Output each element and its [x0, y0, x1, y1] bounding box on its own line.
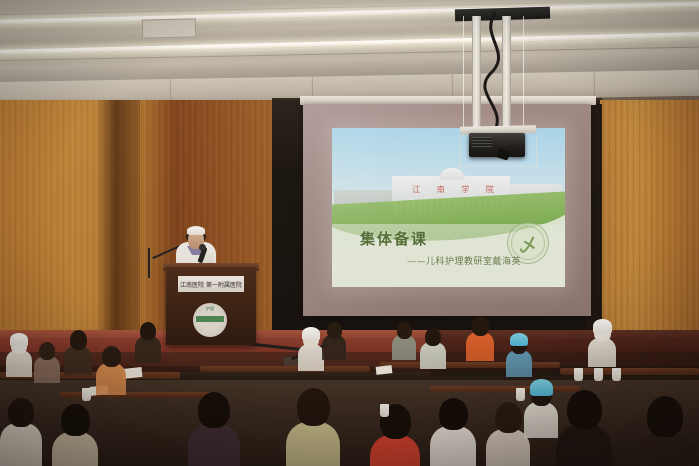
podium-sign: 江南医院 第一附属医院 — [178, 276, 244, 292]
audience-head — [495, 402, 522, 433]
audience-person — [135, 336, 161, 363]
nurse-cap-icon — [302, 327, 320, 340]
wall-corner-shadow — [96, 100, 140, 350]
audience-head — [8, 398, 34, 427]
audience-person — [556, 425, 612, 466]
bench — [430, 386, 580, 392]
bench — [380, 362, 560, 368]
wood-grain-texture-right — [600, 100, 699, 350]
projector-frame-bar — [458, 166, 538, 167]
audience-person — [188, 424, 240, 466]
audience-person — [0, 423, 42, 466]
projector-frame-leg — [460, 134, 461, 168]
audience-person — [466, 332, 494, 361]
audience-person — [524, 402, 558, 438]
bench — [200, 366, 370, 372]
microphone-stand — [148, 248, 150, 278]
paper-cup-icon — [574, 368, 583, 381]
projector-frame-leg — [536, 134, 537, 168]
screen-sheen — [303, 104, 591, 316]
audience-head — [198, 392, 230, 428]
projector-cable — [468, 12, 528, 134]
surgical-cap-icon — [510, 333, 528, 346]
podium-emblem-band — [196, 316, 224, 322]
audience-head — [425, 328, 441, 346]
paper-cup-icon — [594, 368, 603, 381]
nurse-cap-icon — [10, 333, 28, 346]
audience-head — [70, 330, 87, 350]
audience-person — [636, 433, 694, 466]
audience-person — [430, 426, 476, 466]
paper-cup-icon — [612, 368, 621, 381]
audience-person — [96, 363, 126, 395]
audience-head — [647, 396, 683, 437]
paper-sheet — [376, 365, 393, 375]
lift-wire — [463, 16, 464, 136]
photo-scene: 江 南 学 院 乄 集体备课 ——儿科护理教研室戴海英 — [0, 0, 699, 466]
surgical-cap-icon — [530, 379, 553, 396]
audience-head — [61, 404, 90, 436]
podium-emblem-text: 护理 — [196, 306, 224, 314]
paper-cup-icon — [516, 388, 525, 401]
audience-person — [6, 350, 32, 377]
audience-person — [420, 342, 446, 369]
audience-person — [588, 338, 616, 367]
paper-cup-icon — [82, 388, 91, 401]
audience-person — [286, 422, 340, 466]
audience-person — [506, 350, 532, 377]
audience-person — [298, 344, 324, 371]
audience-head — [472, 316, 489, 336]
audience-head — [439, 398, 468, 430]
paper-cup-icon — [380, 404, 389, 417]
audience-person — [52, 432, 98, 466]
ceiling-vent-icon — [142, 18, 196, 38]
audience-head — [567, 390, 602, 429]
microphone-head-icon — [199, 244, 206, 251]
audience-person — [34, 356, 60, 383]
audience-head — [39, 342, 55, 360]
audience-head — [140, 322, 156, 340]
audience-person — [370, 435, 420, 466]
audience-head — [397, 322, 412, 339]
nurse-cap-icon — [593, 319, 612, 333]
audience-head — [102, 346, 121, 367]
nurse-cap-icon — [187, 226, 205, 235]
audience-head — [327, 322, 342, 339]
audience-person — [64, 346, 92, 375]
projector-vent — [472, 137, 492, 148]
audience-head — [297, 388, 330, 426]
